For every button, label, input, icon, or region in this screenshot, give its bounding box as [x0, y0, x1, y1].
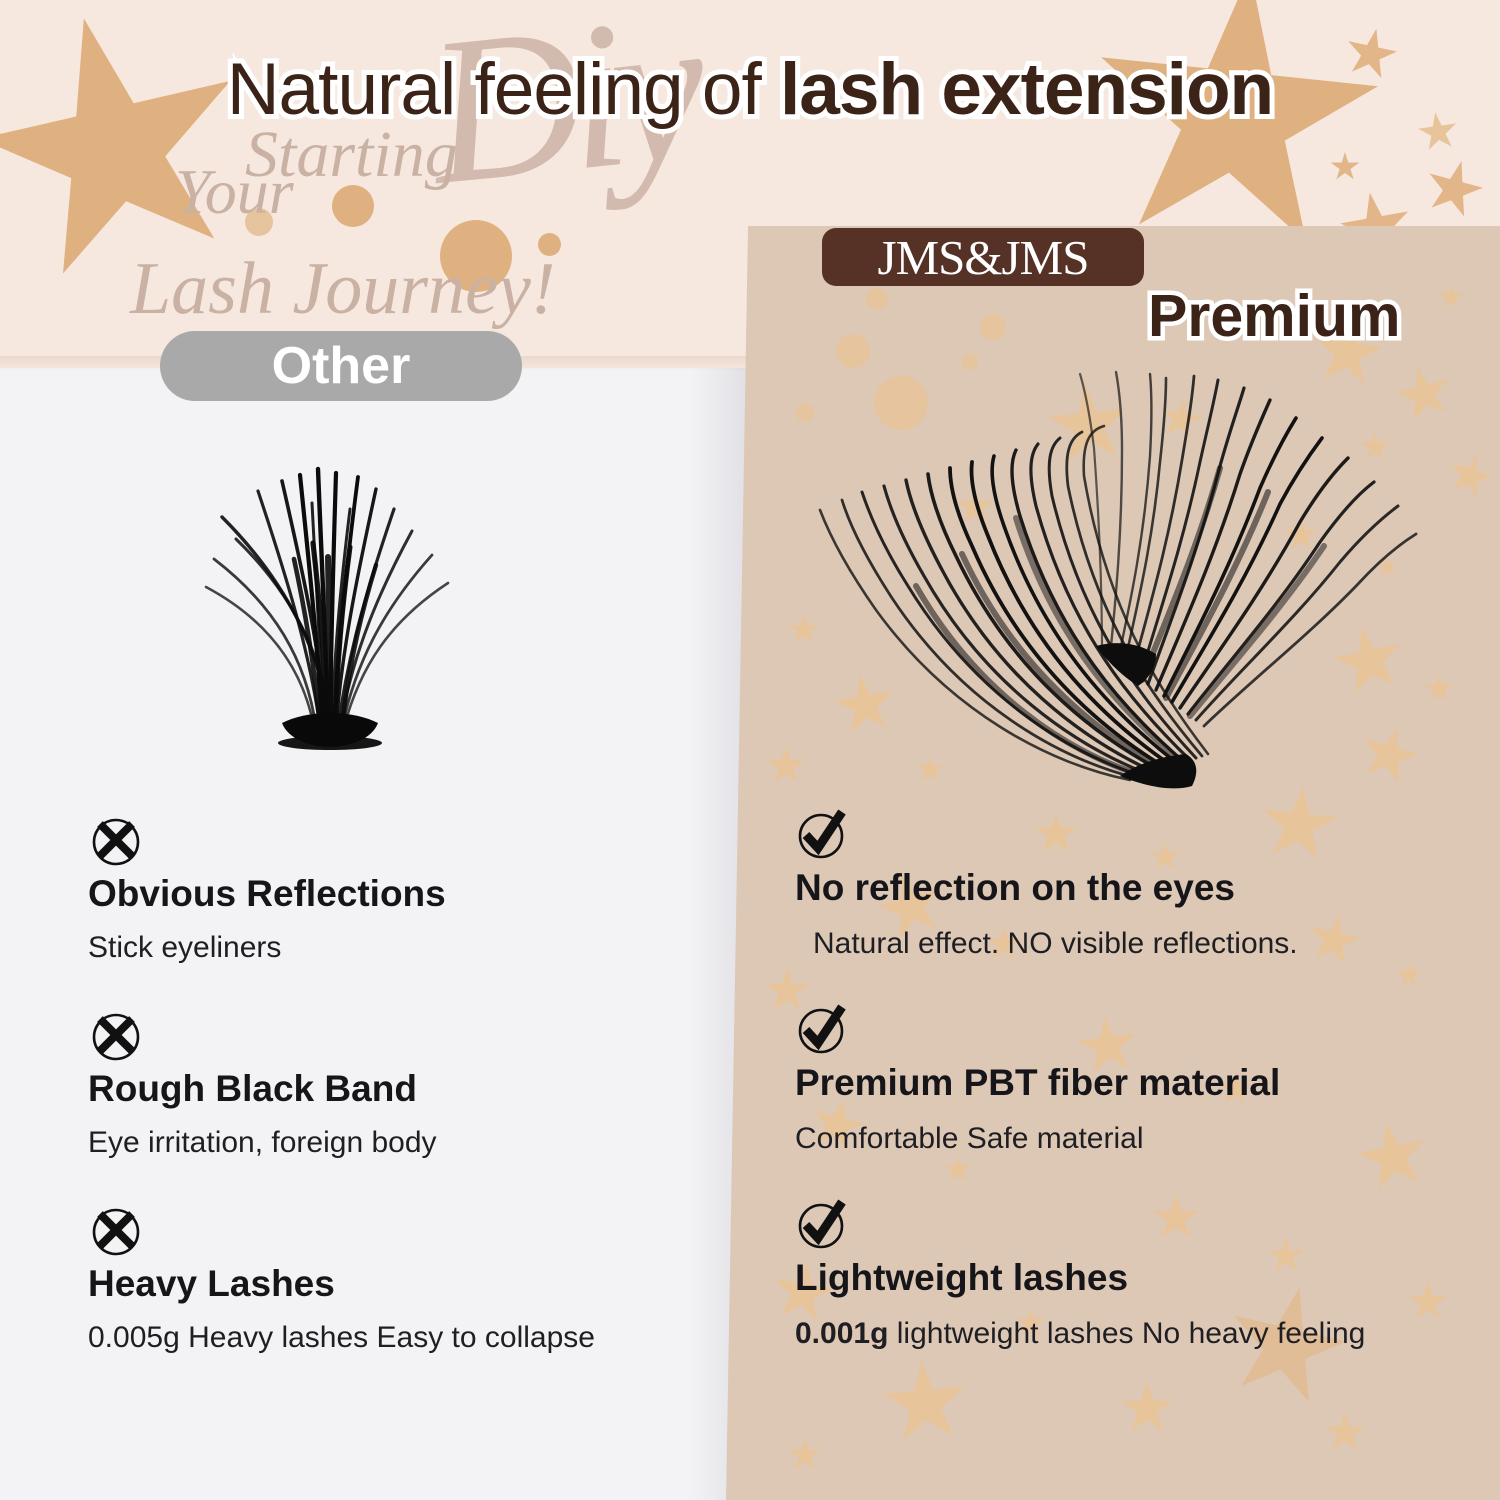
check-circle-icon	[795, 1001, 851, 1057]
decorative-star	[1424, 674, 1454, 704]
decorative-star	[1120, 1382, 1174, 1436]
page-title-bold: lash extension	[780, 49, 1273, 130]
feature-item: Heavy Lashes 0.005g Heavy lashes Easy to…	[88, 1202, 708, 1355]
x-circle-icon	[88, 1007, 144, 1063]
feature-subtitle: 0.005g Heavy lashes Easy to collapse	[88, 1321, 708, 1356]
left-product-image	[170, 455, 490, 755]
feature-subtitle: 0.001g lightweight lashes No heavy feeli…	[795, 1317, 1455, 1352]
feature-title: Heavy Lashes	[88, 1264, 708, 1305]
premium-badge-label: Premium	[1148, 283, 1400, 349]
other-badge-label: Other	[272, 336, 411, 396]
feature-subtitle-rest: lightweight lashes No heavy feeling	[888, 1317, 1365, 1350]
feature-subtitle: Natural effect. NO visible reflections.	[795, 927, 1455, 962]
brand-logo: JMS&JMS	[822, 228, 1144, 286]
page-title-regular: Natural feeling of	[227, 49, 780, 130]
feature-subtitle: Comfortable Safe material	[795, 1122, 1455, 1157]
decorative-star	[1438, 284, 1464, 310]
other-badge: Other	[160, 331, 522, 401]
feature-item: Rough Black Band Eye irritation, foreign…	[88, 1007, 708, 1160]
decorative-dot	[440, 220, 512, 292]
feature-title: Obvious Reflections	[88, 874, 708, 915]
decorative-star	[788, 1438, 822, 1472]
infographic-canvas: Diy Starting Your Lash Journey!	[0, 0, 1500, 1500]
decorative-dot	[980, 314, 1006, 340]
decorative-star	[1324, 1412, 1366, 1454]
decorative-dot	[538, 233, 561, 256]
feature-title: Lightweight lashes	[795, 1258, 1455, 1299]
feature-item: No reflection on the eyes Natural effect…	[795, 806, 1455, 961]
right-product-image	[800, 360, 1420, 830]
decorative-dot	[245, 208, 273, 236]
left-feature-list: Obvious Reflections Stick eyeliners Roug…	[88, 812, 708, 1356]
premium-badge: Premium	[1148, 282, 1400, 350]
decorative-star	[1442, 448, 1497, 503]
feature-title: Rough Black Band	[88, 1069, 708, 1110]
feature-title: Premium PBT fiber material	[795, 1063, 1455, 1104]
x-circle-icon	[88, 812, 144, 868]
right-feature-list: No reflection on the eyes Natural effect…	[795, 806, 1455, 1352]
check-circle-icon	[795, 806, 851, 862]
feature-subtitle: Eye irritation, foreign body	[88, 1126, 708, 1161]
page-title: Natural feeling of lash extension	[0, 52, 1500, 129]
feature-item: Lightweight lashes 0.001g lightweight la…	[795, 1196, 1455, 1351]
feature-item: Obvious Reflections Stick eyeliners	[88, 812, 708, 965]
check-circle-icon	[795, 1196, 851, 1252]
feature-item: Premium PBT fiber material Comfortable S…	[795, 1001, 1455, 1156]
feature-weight-value: 0.001g	[795, 1317, 888, 1350]
x-circle-icon	[88, 1202, 144, 1258]
decorative-star	[878, 1356, 971, 1449]
feature-subtitle: Stick eyeliners	[88, 931, 708, 966]
decorative-dot	[332, 185, 374, 227]
brand-logo-label: JMS&JMS	[878, 229, 1089, 286]
feature-title: No reflection on the eyes	[795, 868, 1455, 909]
decorative-dot	[866, 288, 888, 310]
